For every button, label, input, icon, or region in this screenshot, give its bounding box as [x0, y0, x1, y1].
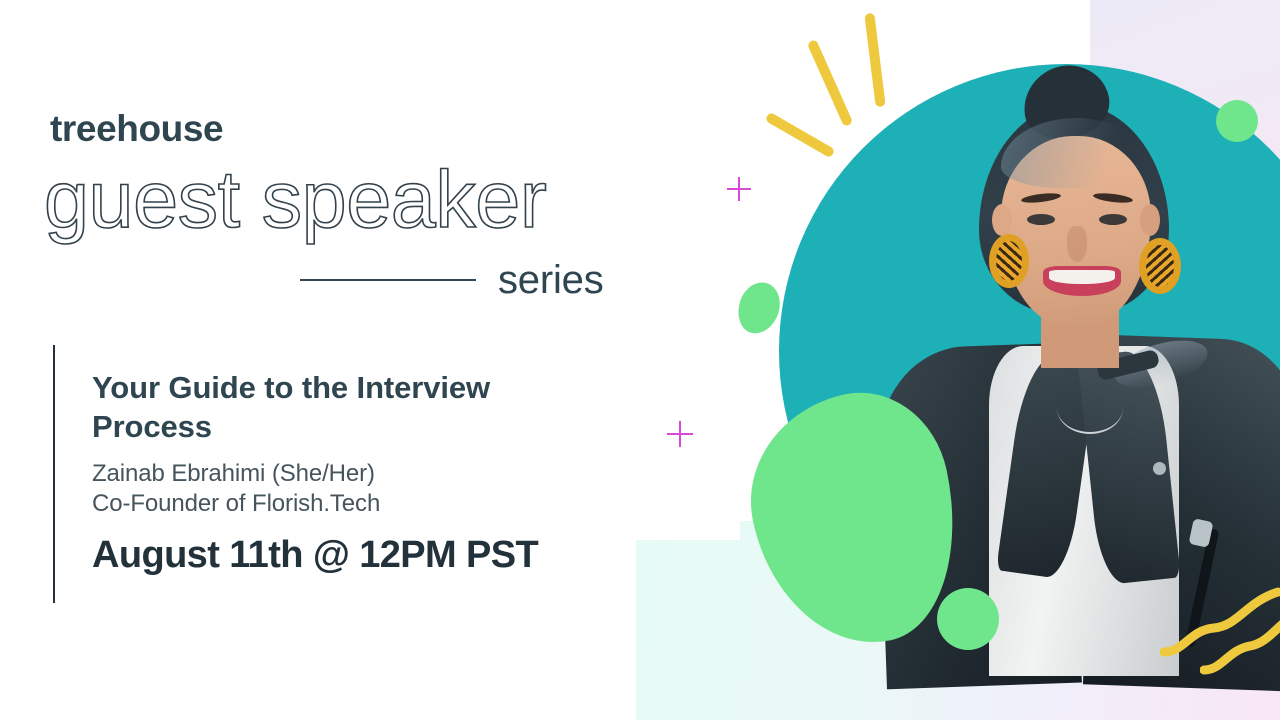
teeth — [1049, 270, 1115, 284]
background-white-wedge — [620, 480, 740, 540]
series-row: series — [300, 252, 630, 308]
series-label: series — [498, 258, 604, 303]
plus-mark-icon — [727, 177, 751, 201]
left-accent-bar — [53, 345, 55, 603]
plus-mark-icon — [667, 421, 693, 447]
brand-wordmark: treehouse — [50, 108, 223, 150]
headline-outline: guest speaker — [44, 158, 546, 243]
green-dot-medium — [937, 588, 999, 650]
series-divider — [300, 279, 476, 281]
necklace — [1057, 382, 1123, 434]
ear-right — [1140, 204, 1160, 236]
eye-right — [1099, 214, 1127, 225]
earring-right — [1139, 238, 1181, 294]
green-dot-right — [1216, 100, 1258, 142]
speaker-name: Zainab Ebrahimi (She/Her) — [92, 460, 375, 488]
talk-title: Your Guide to the Interview Process — [92, 368, 532, 447]
speaker-role: Co-Founder of Florish.Tech — [92, 490, 380, 518]
squiggle-icon — [1200, 600, 1280, 680]
green-dot-small — [732, 277, 786, 339]
mouth — [1043, 266, 1121, 296]
earring-left — [989, 234, 1029, 288]
nose — [1067, 226, 1087, 262]
promo-slide: treehouse guest speaker series Your Guid… — [0, 0, 1280, 720]
event-datetime: August 11th @ 12PM PST — [92, 534, 538, 577]
ear-left — [992, 204, 1012, 236]
eye-left — [1027, 214, 1055, 225]
jacket-stud — [1153, 462, 1166, 475]
